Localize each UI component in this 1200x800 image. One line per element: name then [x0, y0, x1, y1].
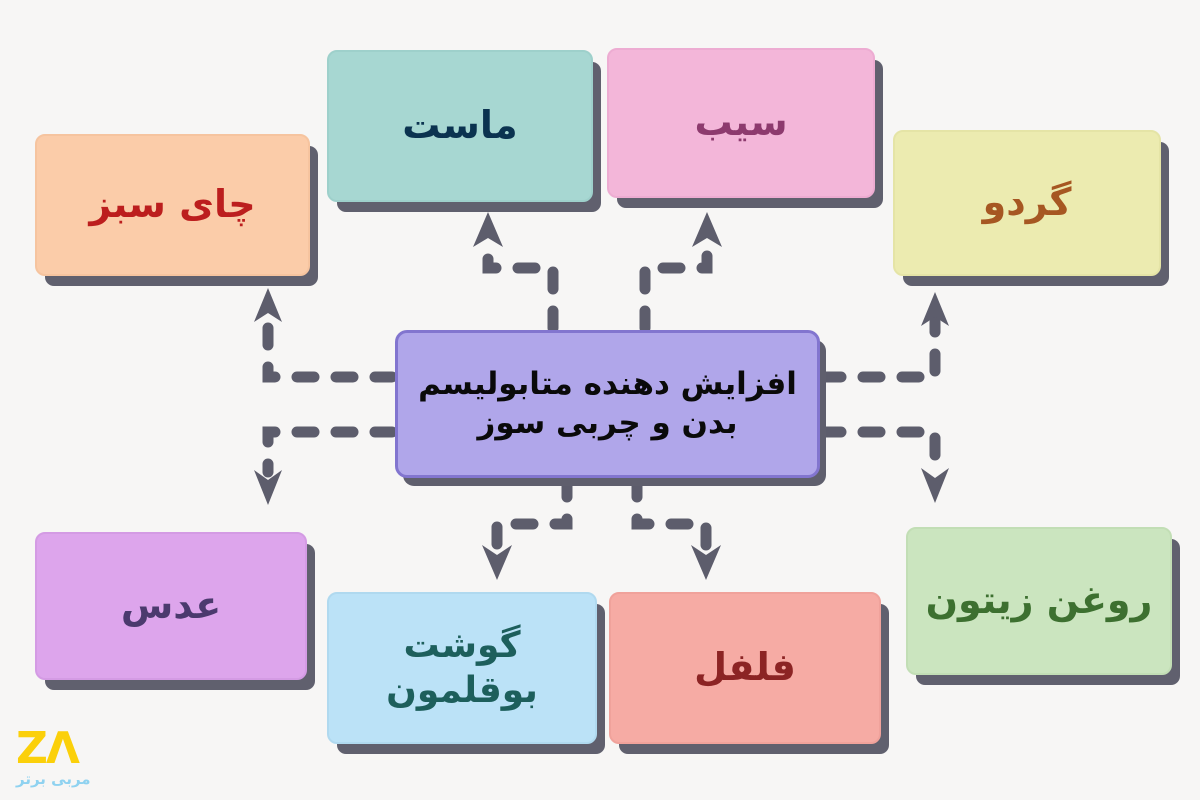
node-walnut[interactable]: گردو [893, 130, 1161, 276]
arrowhead-turkey-meat [482, 545, 512, 580]
arrowhead-olive-oil [921, 468, 949, 503]
connector-apple [645, 243, 707, 328]
node-pepper[interactable]: فلفل [609, 592, 881, 744]
node-label-apple: سیب [694, 99, 787, 147]
node-label-olive-oil: روغن زیتون [926, 577, 1153, 625]
connector-lentils [268, 432, 392, 472]
node-label-lentils: عدس [121, 582, 221, 630]
arrowhead-lentils [254, 470, 282, 505]
node-label-green-tea: چای سبز [89, 181, 255, 229]
node-green-tea[interactable]: چای سبز [35, 134, 310, 276]
arrowhead-green-tea [254, 288, 282, 322]
node-label-turkey-meat: گوشت بوقلمون [386, 623, 538, 713]
watermark-logo: ZΛ مربی برتر [16, 729, 91, 788]
arrowhead-yogurt [473, 212, 503, 247]
node-label-metabolism-booster: افزایش دهنده متابولیسم بدن و چربی سوز [418, 365, 797, 443]
connector-olive-oil [824, 432, 935, 470]
node-apple[interactable]: سیب [607, 48, 875, 198]
connector-walnut [824, 322, 935, 377]
logo-mark-text: ZΛ [16, 729, 91, 769]
arrowhead-apple [692, 212, 722, 247]
node-label-walnut: گردو [983, 179, 1072, 227]
logo-subtitle-text: مربی برتر [16, 770, 91, 788]
arrowhead-walnut [921, 292, 949, 326]
diagram-canvas: افزایش دهنده متابولیسم بدن و چربی سوز چا… [0, 0, 1200, 800]
connector-turkey-meat [497, 480, 567, 547]
connector-yogurt [488, 243, 553, 328]
node-label-pepper: فلفل [694, 644, 796, 692]
node-olive-oil[interactable]: روغن زیتون [906, 527, 1172, 675]
node-yogurt[interactable]: ماست [327, 50, 593, 202]
node-label-yogurt: ماست [402, 102, 517, 150]
connector-pepper [637, 480, 706, 547]
node-turkey-meat[interactable]: گوشت بوقلمون [327, 592, 597, 744]
arrowhead-pepper [691, 545, 721, 580]
connector-green-tea [268, 318, 392, 377]
node-lentils[interactable]: عدس [35, 532, 307, 680]
node-metabolism-booster[interactable]: افزایش دهنده متابولیسم بدن و چربی سوز [395, 330, 820, 478]
